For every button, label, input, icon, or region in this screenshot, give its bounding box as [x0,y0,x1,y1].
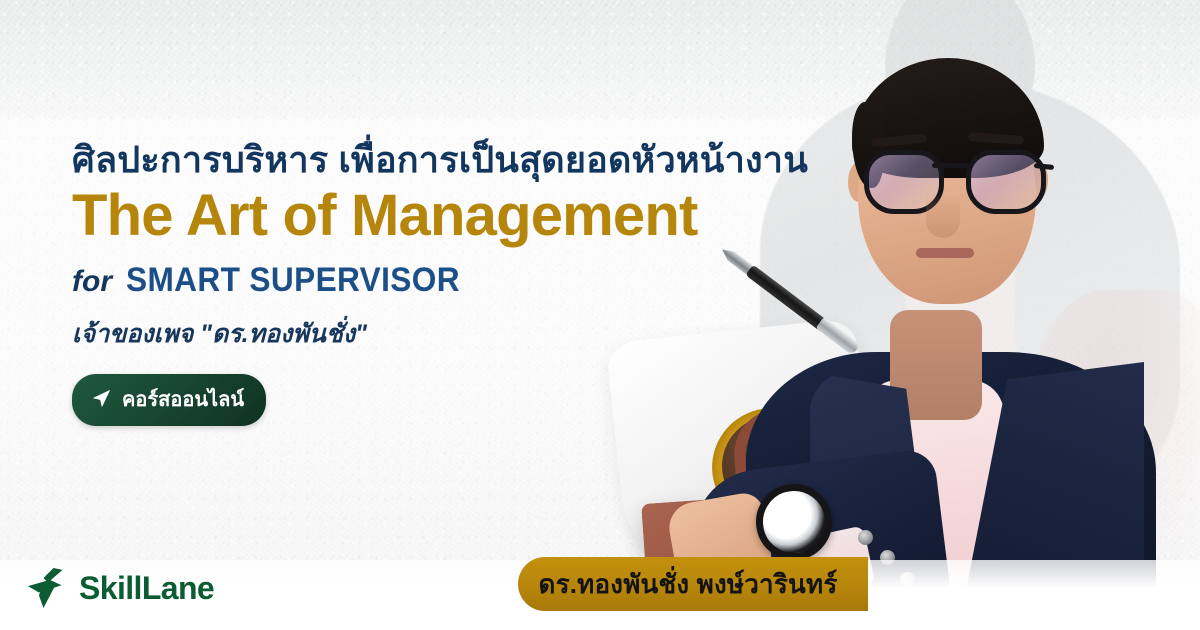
subtitle-thai: เจ้าของเพจ "ดร.ทองพันชั่ง" [72,314,872,354]
for-word: for [72,265,112,299]
send-arrow-icon [90,388,112,410]
online-course-badge-label: คอร์สออนไลน์ [122,383,244,415]
instructor-name: ดร.ทองพันชั่ง พงษ์วารินทร์ [538,564,837,605]
skilllane-logo[interactable]: SkillLane [26,568,214,608]
instructor-name-banner: ดร.ทองพันชั่ง พงษ์วารินทร์ [518,557,868,611]
skilllane-wordmark: SkillLane [79,570,214,607]
suit-sleeve-button [858,530,873,545]
eyeglass-bridge [932,163,970,168]
skilllane-swoosh-icon [26,568,70,608]
online-course-badge[interactable]: คอร์สออนไลน์ [72,374,266,426]
eyeglass-lens-right [966,150,1046,214]
headline-block: ศิลปะการบริหาร เพื่อการเป็นสุดยอดหัวหน้า… [72,140,872,426]
portrait-nose [926,192,960,238]
headline-english: The Art of Management [72,186,872,246]
course-promo-banner: ศิลปะการบริหาร เพื่อการเป็นสุดยอดหัวหน้า… [0,0,1200,630]
audience-label: SMART SUPERVISOR [126,261,460,300]
audience-line: for SMART SUPERVISOR [72,261,872,300]
headline-thai: ศิลปะการบริหาร เพื่อการเป็นสุดยอดหัวหน้า… [72,140,872,180]
portrait-mouth [916,248,974,258]
